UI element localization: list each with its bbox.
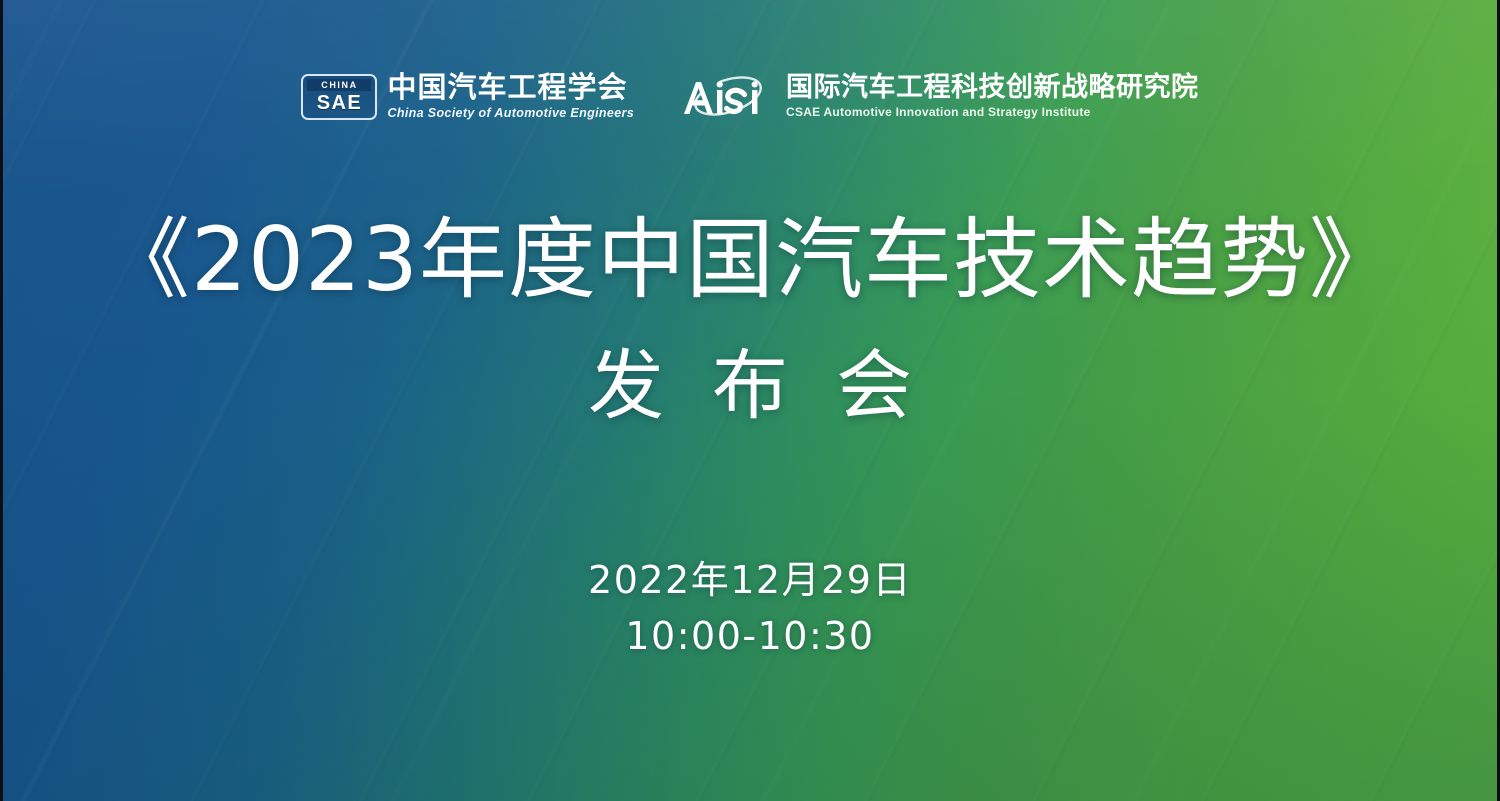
csae-emblem-bottom-text: SAE <box>317 92 362 114</box>
csae-name-en: China Society of Automotive Engineers <box>387 105 634 121</box>
csae-emblem-icon: CHINA SAE <box>301 74 377 120</box>
logo-bar: CHINA SAE 中国汽车工程学会 China Society of Auto… <box>3 72 1497 121</box>
aisi-name-en: CSAE Automotive Innovation and Strategy … <box>786 105 1199 120</box>
csae-name-cn: 中国汽车工程学会 <box>387 72 634 104</box>
event-time: 10:00-10:30 <box>3 608 1497 664</box>
csae-logo-text: 中国汽车工程学会 China Society of Automotive Eng… <box>387 72 634 121</box>
aisi-emblem-icon <box>678 72 774 120</box>
csae-logo: CHINA SAE 中国汽车工程学会 China Society of Auto… <box>301 72 634 121</box>
aisi-logo-text: 国际汽车工程科技创新战略研究院 CSAE Automotive Innovati… <box>786 72 1199 120</box>
aisi-name-cn: 国际汽车工程科技创新战略研究院 <box>786 72 1199 103</box>
csae-emblem-top-text: CHINA <box>307 79 371 91</box>
event-datetime-block: 2022年12月29日 10:00-10:30 <box>3 552 1497 664</box>
event-date: 2022年12月29日 <box>3 552 1497 608</box>
aisi-logo: 国际汽车工程科技创新战略研究院 CSAE Automotive Innovati… <box>678 72 1199 120</box>
presentation-title-slide: CHINA SAE 中国汽车工程学会 China Society of Auto… <box>0 0 1500 801</box>
